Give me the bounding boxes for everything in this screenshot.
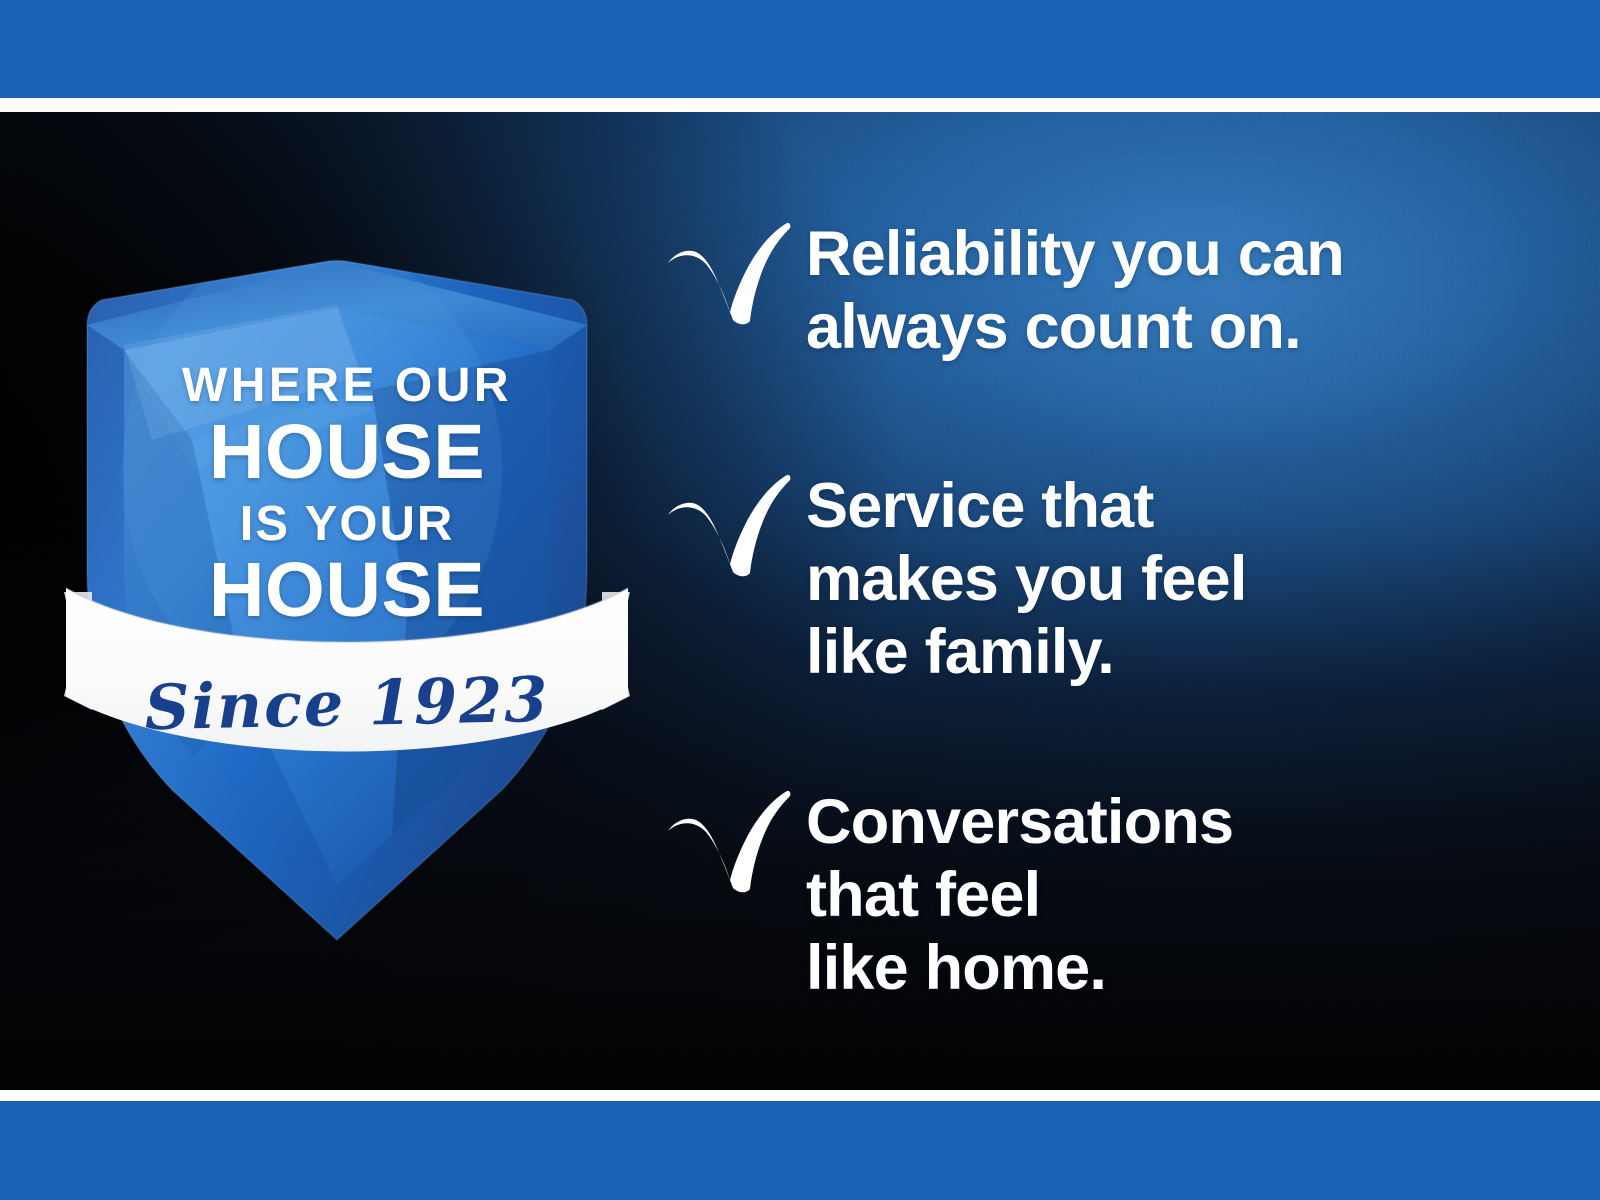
bottom-white-divider xyxy=(0,1090,1600,1101)
shield-since-text: Since 1923 xyxy=(61,661,632,746)
benefit-item-3: Conversations that feel like home. xyxy=(660,784,1233,1005)
top-white-divider xyxy=(0,98,1600,112)
benefits-list: Reliability you can always count on. Ser… xyxy=(660,112,1560,1090)
benefit-text-1: Reliability you can always count on. xyxy=(806,218,1344,364)
checkmark-icon xyxy=(660,784,792,904)
checkmark-icon xyxy=(660,468,792,588)
checkmark-icon xyxy=(660,216,792,336)
top-brand-bar xyxy=(0,0,1600,98)
benefit-text-3: Conversations that feel like home. xyxy=(806,786,1233,1005)
banner-canvas: WHERE OUR HOUSE IS YOUR HOUSE Since 1923… xyxy=(0,0,1600,1200)
benefit-item-1: Reliability you can always count on. xyxy=(660,216,1344,364)
benefit-item-2: Service that makes you feel like family. xyxy=(660,468,1247,689)
bottom-brand-bar xyxy=(0,1101,1600,1200)
shield-logo: WHERE OUR HOUSE IS YOUR HOUSE Since 1923 xyxy=(62,140,632,960)
benefit-text-2: Service that makes you feel like family. xyxy=(806,470,1247,689)
